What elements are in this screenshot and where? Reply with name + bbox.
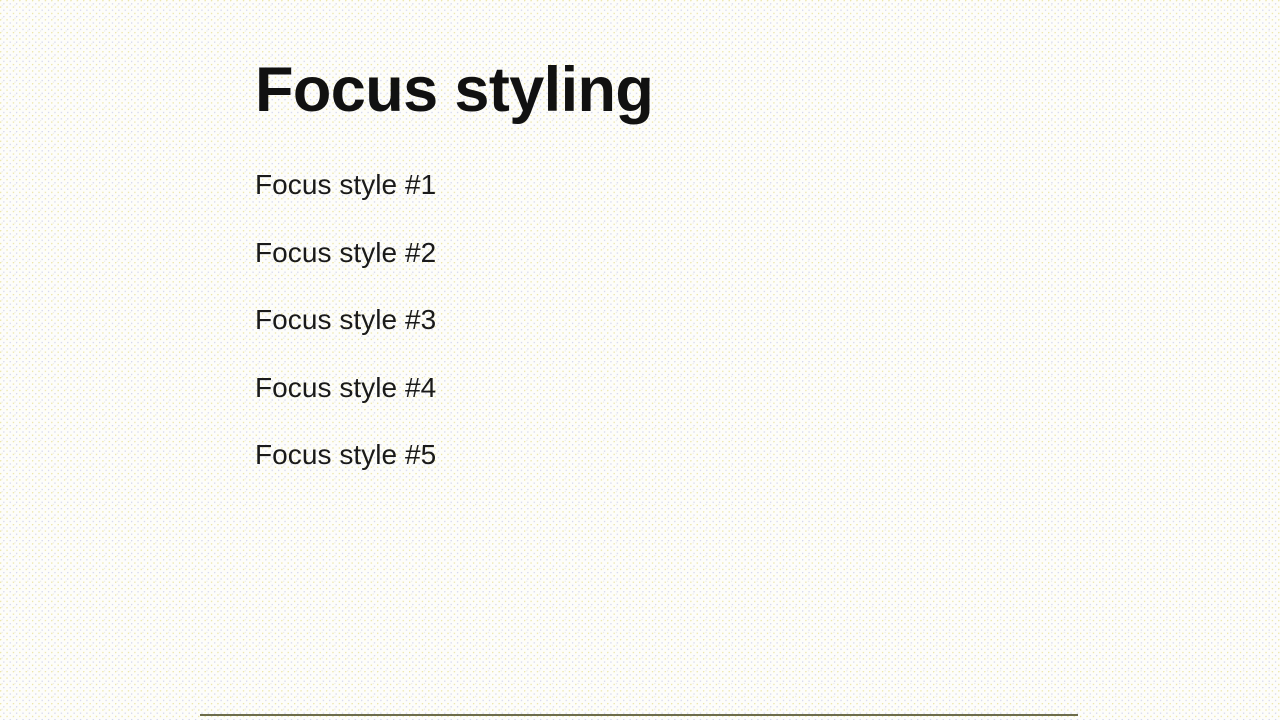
list-item: Focus style #5 [255, 440, 1215, 469]
slide-canvas: Focus styling Focus style #1 Focus style… [0, 0, 1280, 720]
bullet-list: Focus style #1 Focus style #2 Focus styl… [255, 170, 1215, 470]
page-title: Focus styling [255, 55, 653, 126]
list-item: Focus style #3 [255, 305, 1215, 334]
slide-content-column: Focus styling Focus style #1 Focus style… [255, 0, 1215, 720]
footer-divider [200, 714, 1078, 716]
list-item: Focus style #4 [255, 373, 1215, 402]
list-item: Focus style #2 [255, 238, 1215, 267]
list-item: Focus style #1 [255, 170, 1215, 199]
